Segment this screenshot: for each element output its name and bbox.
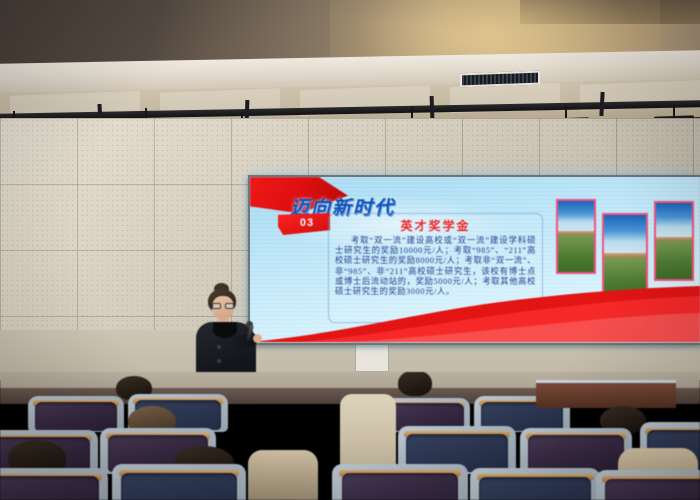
landscape-photo-3 [654,201,694,281]
led-presentation-screen[interactable]: 迈向新时代 03 英才奖学金 考取“双一流”建设高校或“双一流”建设学科硕士研究… [250,177,700,342]
slide-red-wave [250,284,700,342]
audience-torso [248,450,318,500]
landscape-photo-1 [556,199,596,274]
audience-head [398,372,432,396]
seat [112,464,246,500]
ceiling-air-vent-icon [460,71,540,88]
presenter-hand [253,334,262,343]
seat [28,396,124,432]
lecture-hall-photo: 迈向新时代 03 英才奖学金 考取“双一流”建设高校或“双一流”建设学科硕士研究… [0,0,700,500]
slide-section-number: 03 [300,217,314,229]
audience-seating [0,372,700,500]
wall-access-panel [355,342,389,372]
podium-desk [536,380,676,408]
seat [596,470,700,500]
seat [332,464,468,500]
seat [470,468,600,500]
seat [0,468,108,500]
presenter-collar [213,322,237,338]
slide-card-title: 英才奖学金 [329,217,542,234]
glasses-icon [212,303,235,309]
